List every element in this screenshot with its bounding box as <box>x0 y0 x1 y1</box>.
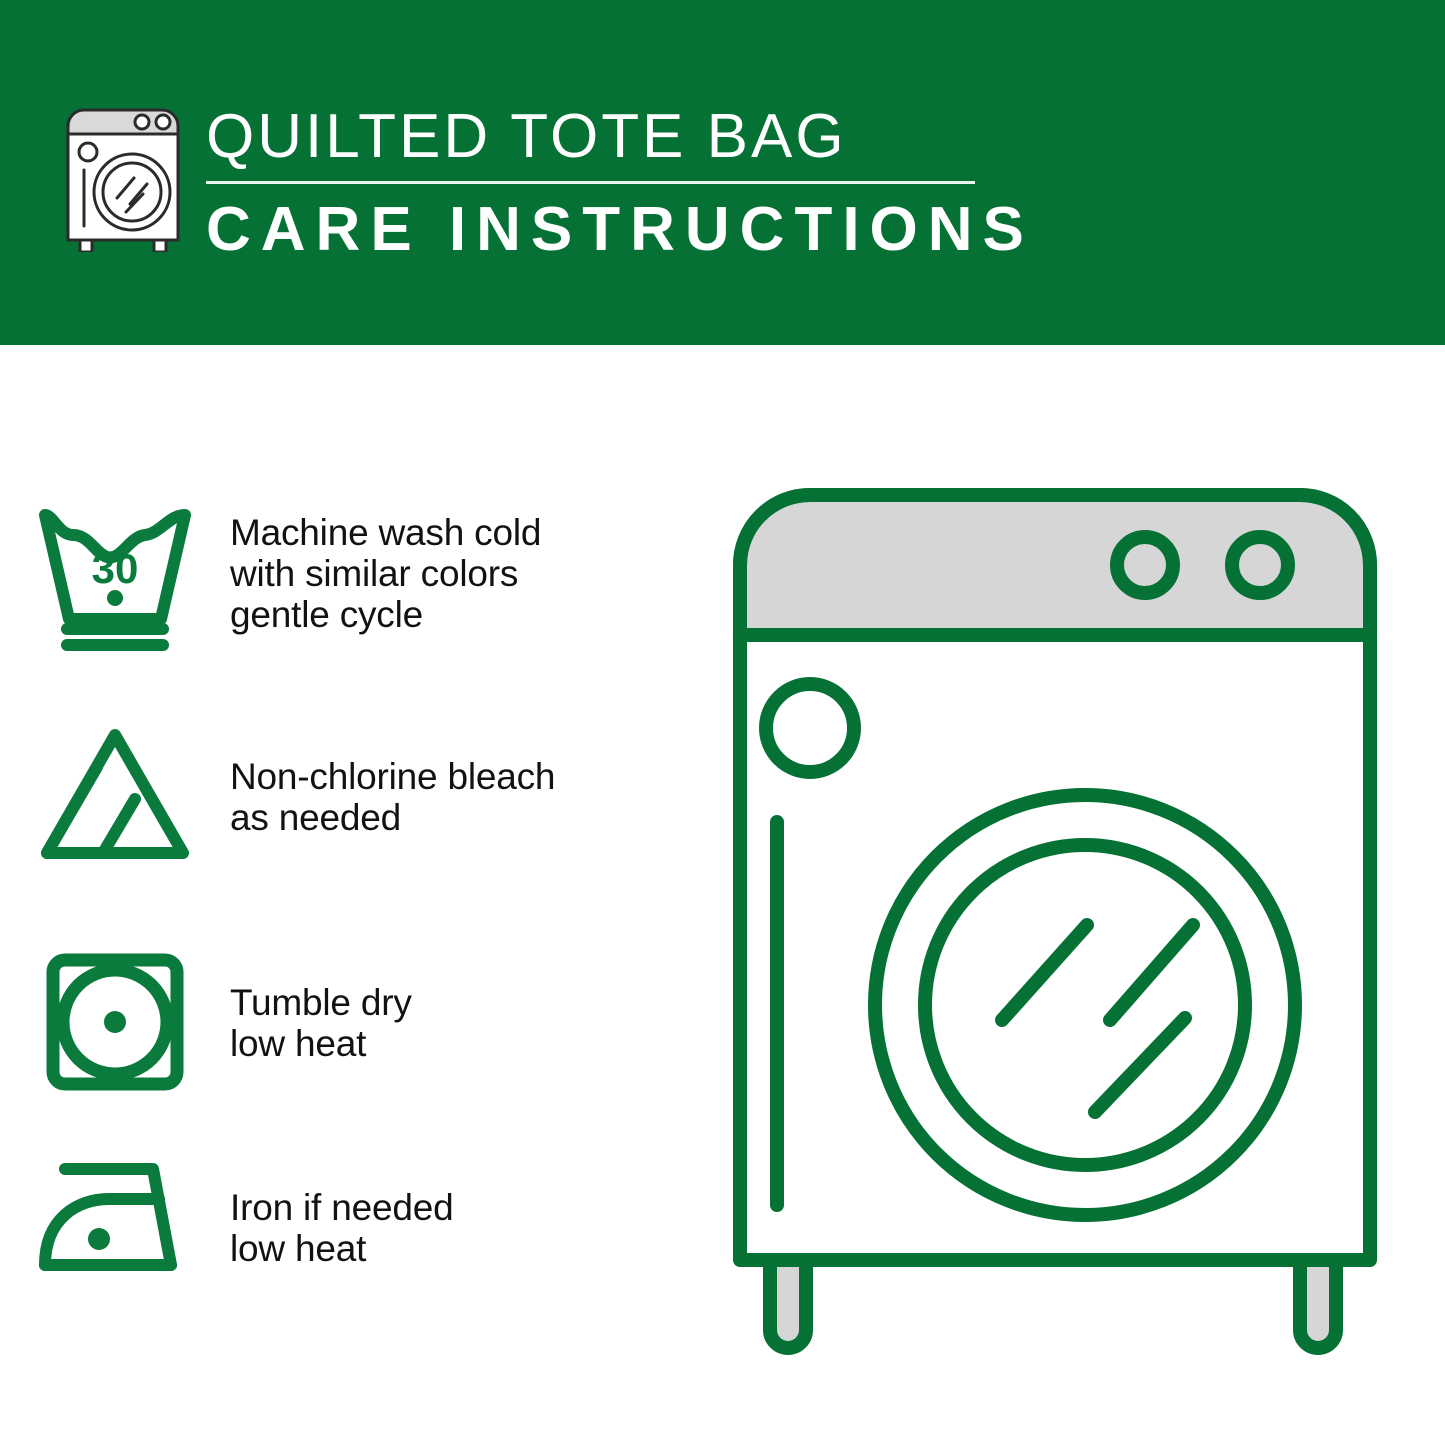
page-title: QUILTED TOTE BAG <box>206 101 996 173</box>
care-row: Iron if needed low heat <box>0 1157 700 1277</box>
page-subtitle: CARE INSTRUCTIONS <box>206 194 996 266</box>
care-row: Non-chlorine bleach as needed <box>0 725 700 865</box>
care-row-label: Tumble dry low heat <box>230 953 700 1064</box>
care-row-label: Machine wash cold with similar colors ge… <box>230 501 700 635</box>
care-row: 30 Machine wash cold with similar colors… <box>0 501 700 651</box>
header-band: QUILTED TOTE BAG CARE INSTRUCTIONS <box>0 0 1445 345</box>
care-instruction-list: 30 Machine wash cold with similar colors… <box>0 345 700 1445</box>
care-row-label: Non-chlorine bleach as needed <box>230 725 700 838</box>
tumble-dry-low-icon <box>0 953 230 1091</box>
title-divider <box>206 181 975 184</box>
care-row: Tumble dry low heat <box>0 953 700 1091</box>
iron-low-heat-icon <box>0 1157 230 1277</box>
bleach-triangle-icon <box>0 725 230 865</box>
washing-machine-illustration <box>715 470 1415 1370</box>
wash-temperature-label: 30 <box>91 545 138 592</box>
header-text-block: QUILTED TOTE BAG CARE INSTRUCTIONS <box>206 101 996 266</box>
care-row-label: Iron if needed low heat <box>230 1157 700 1269</box>
wash-tub-30-icon: 30 <box>0 501 230 651</box>
washing-machine-logo-icon <box>62 104 184 252</box>
